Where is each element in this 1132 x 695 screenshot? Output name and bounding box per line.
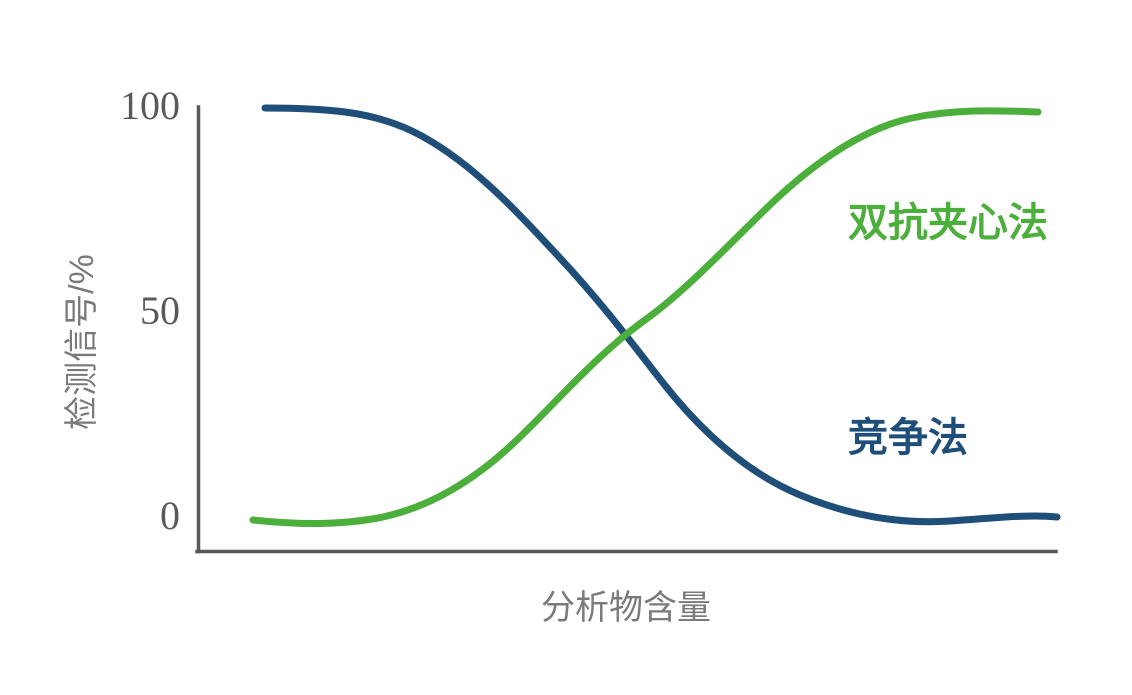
y-axis-title: 检测信号/% xyxy=(60,112,104,572)
series-label-competitive: 竞争法 xyxy=(848,418,968,458)
axis-lines xyxy=(197,107,1056,552)
series-label-sandwich: 双抗夹心法 xyxy=(848,203,1048,243)
chart-container: 100 50 0 检测信号/% 分析物含量 双抗夹心法 竞争法 xyxy=(0,0,1132,695)
y-tick-label-100: 100 xyxy=(120,86,180,126)
y-tick-label-0: 0 xyxy=(160,496,180,536)
series-line-sandwich xyxy=(253,111,1038,524)
x-axis-title: 分析物含量 xyxy=(197,580,1055,629)
y-tick-label-50: 50 xyxy=(140,291,180,331)
